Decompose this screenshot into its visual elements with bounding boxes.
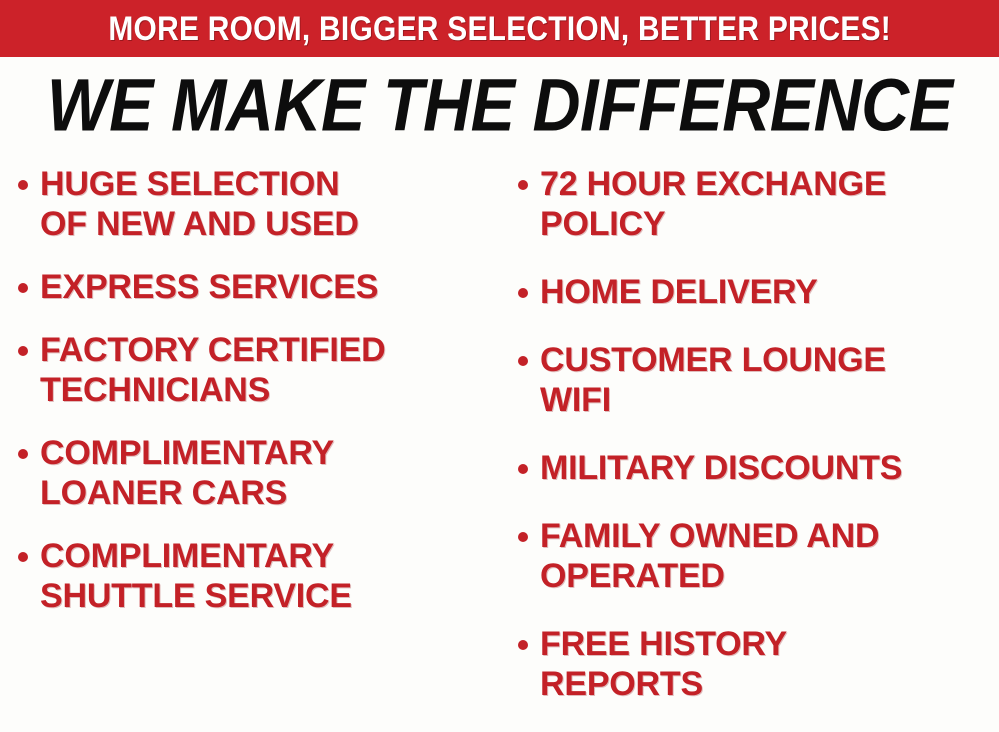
list-item-label: COMPLIMENTARY SHUTTLE SERVICE — [40, 536, 352, 616]
billboard-advertisement: MORE ROOM, BIGGER SELECTION, BETTER PRIC… — [0, 0, 999, 692]
bullet-dot-icon — [18, 449, 28, 459]
bullet-dot-icon — [518, 356, 528, 366]
list-item: FACTORY CERTIFIED TECHNICIANS — [18, 330, 500, 410]
list-item-label: EXPRESS SERVICES — [40, 267, 378, 307]
bullet-dot-icon — [518, 640, 528, 650]
list-item: HUGE SELECTION OF NEW AND USED — [18, 164, 500, 244]
bullet-dot-icon — [18, 283, 28, 293]
list-item: COMPLIMENTARY SHUTTLE SERVICE — [18, 536, 500, 616]
list-item: EXPRESS SERVICES — [18, 267, 500, 307]
list-item-label: HOME DELIVERY — [540, 272, 818, 312]
features-column-left: HUGE SELECTION OF NEW AND USED EXPRESS S… — [0, 160, 500, 639]
bullet-dot-icon — [18, 346, 28, 356]
list-item-label: CUSTOMER LOUNGE WIFI — [540, 340, 886, 420]
bullet-dot-icon — [18, 552, 28, 562]
list-item-label: FREE HISTORY REPORTS — [540, 624, 787, 704]
bullet-dot-icon — [518, 532, 528, 542]
list-item-label: MILITARY DISCOUNTS — [540, 448, 902, 488]
list-item: FAMILY OWNED AND OPERATED — [518, 516, 999, 596]
features-column-right: 72 HOUR EXCHANGE POLICY HOME DELIVERY CU… — [500, 160, 999, 732]
list-item: CUSTOMER LOUNGE WIFI — [518, 340, 999, 420]
list-item: MILITARY DISCOUNTS — [518, 448, 999, 488]
page-title: WE MAKE THE DIFFERENCE — [47, 68, 953, 142]
list-item-label: FACTORY CERTIFIED TECHNICIANS — [40, 330, 385, 410]
list-item-label: HUGE SELECTION OF NEW AND USED — [40, 164, 359, 244]
bullet-dot-icon — [18, 180, 28, 190]
features-columns: HUGE SELECTION OF NEW AND USED EXPRESS S… — [0, 160, 999, 692]
bullet-dot-icon — [518, 288, 528, 298]
promo-banner-text: MORE ROOM, BIGGER SELECTION, BETTER PRIC… — [108, 12, 891, 46]
bullet-dot-icon — [518, 464, 528, 474]
promo-banner: MORE ROOM, BIGGER SELECTION, BETTER PRIC… — [0, 0, 999, 57]
list-item: HOME DELIVERY — [518, 272, 999, 312]
list-item-label: FAMILY OWNED AND OPERATED — [540, 516, 879, 596]
list-item: 72 HOUR EXCHANGE POLICY — [518, 164, 999, 244]
list-item: COMPLIMENTARY LOANER CARS — [18, 433, 500, 513]
list-item-label: COMPLIMENTARY LOANER CARS — [40, 433, 334, 513]
bullet-dot-icon — [518, 180, 528, 190]
list-item-label: 72 HOUR EXCHANGE POLICY — [540, 164, 886, 244]
headline-container: WE MAKE THE DIFFERENCE — [0, 66, 999, 144]
list-item: FREE HISTORY REPORTS — [518, 624, 999, 704]
